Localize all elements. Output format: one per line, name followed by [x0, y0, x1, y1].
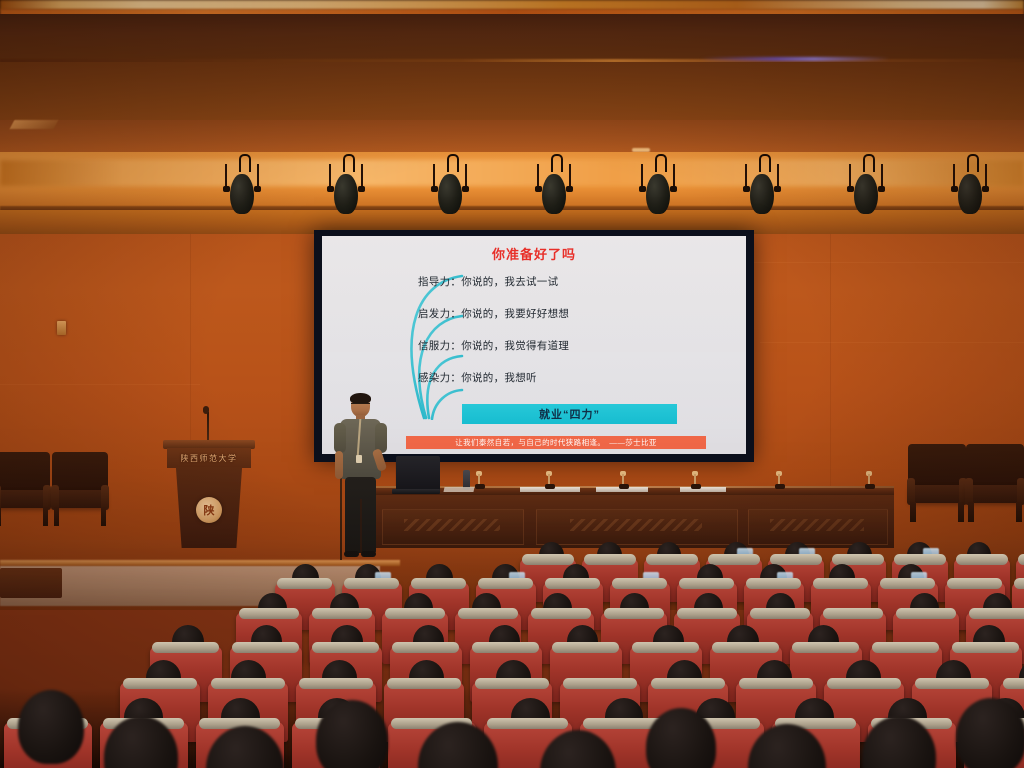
podium-microphone	[207, 412, 209, 442]
seat-headrest	[872, 642, 938, 653]
seat-headrest	[646, 554, 698, 565]
spotlight-fixture	[952, 164, 988, 216]
auditorium-scene: 你准备好了吗 指导力：你说的，我去试一试 启发力：你说的，我要好好想想 信服力：…	[0, 0, 1024, 768]
stage-armchair	[966, 444, 1024, 522]
seat-headrest	[947, 578, 1002, 589]
spotlight-fixture	[536, 164, 572, 216]
slide-bullet-list: 指导力：你说的，我去试一试 启发力：你说的，我要好好想想 信服力：你说的，我觉得…	[418, 274, 738, 402]
audience-member	[956, 698, 1024, 768]
lectern: 陕西师范大学 陕	[167, 440, 251, 548]
slide-callout-box: 就业“四力”	[462, 404, 677, 424]
presenter-sleeve-left	[334, 423, 346, 453]
seat-headrest	[792, 642, 858, 653]
seat-headrest	[604, 608, 665, 619]
ceiling-band-mid	[0, 14, 1024, 62]
spotlight-fixture	[224, 164, 260, 216]
seat-headrest	[487, 718, 568, 729]
seat-headrest	[823, 608, 884, 619]
podium-microphone-head	[203, 406, 209, 414]
head-table	[374, 486, 894, 548]
seat-headrest	[1018, 554, 1024, 565]
audience-member	[18, 690, 84, 764]
seat-headrest	[612, 578, 667, 589]
audience-member	[316, 700, 388, 768]
spotlight-fixture	[432, 164, 468, 216]
seat-headrest	[750, 608, 811, 619]
table-nameplate	[680, 487, 726, 492]
ceiling-soffit	[0, 120, 1024, 154]
ceiling-vent	[10, 120, 59, 129]
seat-headrest	[312, 642, 378, 653]
audience-seating	[0, 540, 1024, 768]
seat-headrest	[956, 554, 1008, 565]
seat-headrest	[770, 554, 822, 565]
seat-headrest	[392, 642, 458, 653]
seat-headrest	[813, 578, 868, 589]
glasses-icon	[351, 403, 370, 408]
seat-headrest	[651, 678, 725, 689]
seat-headrest	[894, 554, 946, 565]
seat-headrest	[915, 678, 989, 689]
seat-headrest	[677, 608, 738, 619]
seat-headrest	[880, 578, 935, 589]
presenter-arm-left	[335, 451, 343, 479]
spotlight-fixture	[848, 164, 884, 216]
seat-headrest	[746, 578, 801, 589]
seat-headrest	[472, 642, 538, 653]
spotlight-fixture	[328, 164, 364, 216]
seat-headrest	[277, 578, 332, 589]
ceiling-band-lower	[0, 62, 1024, 122]
seat-headrest	[712, 642, 778, 653]
list-item: 信服力：你说的，我觉得有道理	[418, 338, 738, 353]
seat-headrest	[545, 578, 600, 589]
seat-headrest	[522, 554, 574, 565]
wall-switch-plate	[57, 321, 66, 335]
seat-headrest	[475, 678, 549, 689]
seat-headrest	[679, 578, 734, 589]
spotlight-fixture	[744, 164, 780, 216]
slide-quote-banner: 让我们泰然自若，与自己的时代狭路相逢。 ——莎士比亚	[406, 436, 706, 449]
presenter-laptop-lid	[396, 456, 440, 490]
seat-headrest	[123, 678, 197, 689]
seat-headrest	[458, 608, 519, 619]
seat-headrest	[232, 642, 298, 653]
slide-title: 你准备好了吗	[322, 244, 746, 263]
stage-armchair	[908, 444, 966, 522]
seat-headrest	[211, 678, 285, 689]
lectern-nameband: 陕西师范大学	[167, 448, 251, 468]
seat-headrest	[552, 642, 618, 653]
seat-headrest	[969, 608, 1024, 619]
seat-headrest	[239, 608, 300, 619]
table-papers	[443, 487, 474, 492]
seat-headrest	[1003, 678, 1024, 689]
seat-headrest	[739, 678, 813, 689]
seat-headrest	[563, 678, 637, 689]
id-badge	[356, 455, 362, 463]
seat-headrest	[387, 678, 461, 689]
seat-headrest	[708, 554, 760, 565]
seat-headrest	[152, 642, 218, 653]
list-item: 指导力：你说的，我去试一试	[418, 274, 738, 289]
seat-headrest	[827, 678, 901, 689]
seat-headrest	[632, 642, 698, 653]
seat-headrest	[478, 578, 533, 589]
seat-headrest	[1014, 578, 1024, 589]
seat-headrest	[411, 578, 466, 589]
stage-armchair	[0, 452, 50, 526]
seat-headrest	[344, 578, 399, 589]
list-item: 启发力：你说的，我要好好想想	[418, 306, 738, 321]
spotlight-fixture	[640, 164, 676, 216]
lectern-label: 陕西师范大学	[181, 453, 238, 464]
presenter-laptop-base	[392, 489, 440, 494]
stage-armchair	[52, 452, 108, 526]
university-seal: 陕	[196, 497, 222, 523]
seat-headrest	[584, 554, 636, 565]
ceiling-blue-light-glint	[700, 57, 890, 61]
seat-headrest	[531, 608, 592, 619]
seat-headrest	[896, 608, 957, 619]
seat-headrest	[312, 608, 373, 619]
seat-headrest	[299, 678, 373, 689]
list-item: 感染力：你说的，我想听	[418, 370, 738, 385]
seat-headrest	[952, 642, 1018, 653]
seat-headrest	[385, 608, 446, 619]
